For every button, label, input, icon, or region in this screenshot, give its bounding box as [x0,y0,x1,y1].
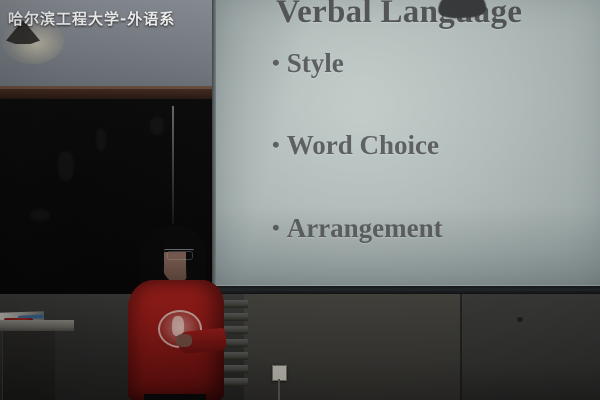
chalk-mark [150,117,164,135]
chalk-rail-highlight [0,86,216,89]
chalk-mark [30,209,50,221]
presenter-lower-body [144,394,206,400]
slide-bullet-label: Arrangement [287,213,443,244]
slide-bullet-label: Word Choice [287,130,439,161]
watermark-text: 哈尔滨工程大学-外语系 [8,8,175,29]
slide-title: Verbal Language [276,0,596,31]
chalk-mark [58,151,74,181]
wall-panel-seam [460,294,462,400]
chalk-mark [96,129,106,151]
podium-desktop [0,320,74,331]
slide-bullet-item: • Word Choice [272,130,439,161]
presenter-hand [176,334,192,347]
wall-mark [517,317,523,322]
slide-bullet-label: Style [287,48,344,79]
bullet-dot-icon: • [272,52,280,74]
presenter [122,222,234,400]
lower-wall-panel [244,294,462,400]
presenter-glasses-icon [164,249,194,259]
lower-wall-panel-right [462,294,600,400]
slide-bullet-item: • Style [272,48,344,79]
bullet-dot-icon: • [272,217,280,239]
classroom-photo: Verbal Language • Style • Word Choice • … [0,0,600,400]
slide-bullet-item: • Arrangement [272,213,443,244]
bullet-dot-icon: • [272,134,280,156]
outlet-conduit [278,379,280,400]
pointer-stick [172,106,174,224]
podium-body [2,331,55,400]
